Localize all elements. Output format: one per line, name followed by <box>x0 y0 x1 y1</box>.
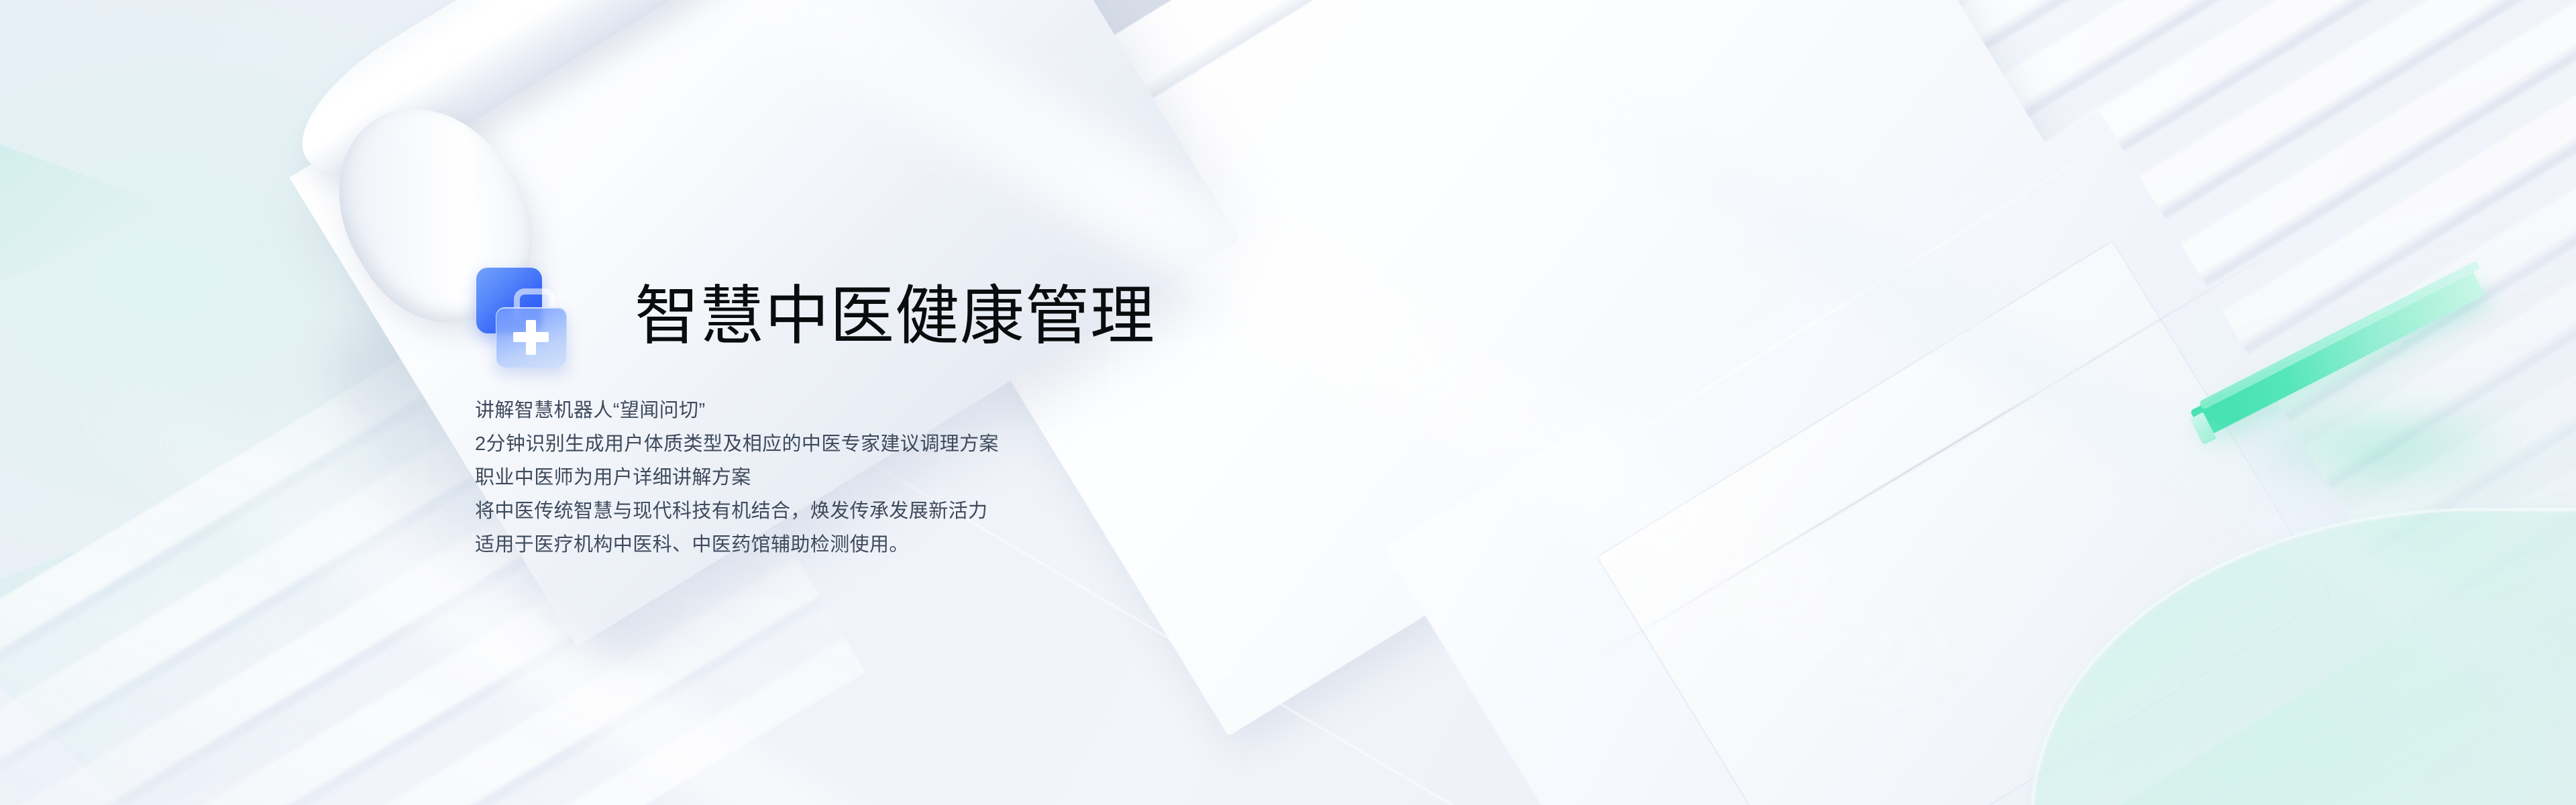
hero-banner: 智慧中医健康管理 讲解智慧机器人“望闻问切” 2分钟识别生成用户体质类型及相应的… <box>0 0 2576 805</box>
description-line: 适用于医疗机构中医科、中医药馆辅助检测使用。 <box>475 529 999 562</box>
description-line: 2分钟识别生成用户体质类型及相应的中医专家建议调理方案 <box>475 428 999 462</box>
banner-content: 智慧中医健康管理 讲解智慧机器人“望闻问切” 2分钟识别生成用户体质类型及相应的… <box>0 0 2576 805</box>
plus-icon-horizontal-bar <box>513 332 549 342</box>
description-line: 将中医传统智慧与现代科技有机结合，焕发传承发展新活力 <box>475 495 999 529</box>
description-line: 职业中医师为用户详细讲解方案 <box>475 462 999 495</box>
medical-kit-icon <box>474 266 574 367</box>
description-line: 讲解智慧机器人“望闻问切” <box>475 394 999 428</box>
description-block: 讲解智慧机器人“望闻问切” 2分钟识别生成用户体质类型及相应的中医专家建议调理方… <box>475 394 999 561</box>
title-row: 智慧中医健康管理 <box>474 241 1155 392</box>
page-title: 智慧中医健康管理 <box>635 284 1155 349</box>
